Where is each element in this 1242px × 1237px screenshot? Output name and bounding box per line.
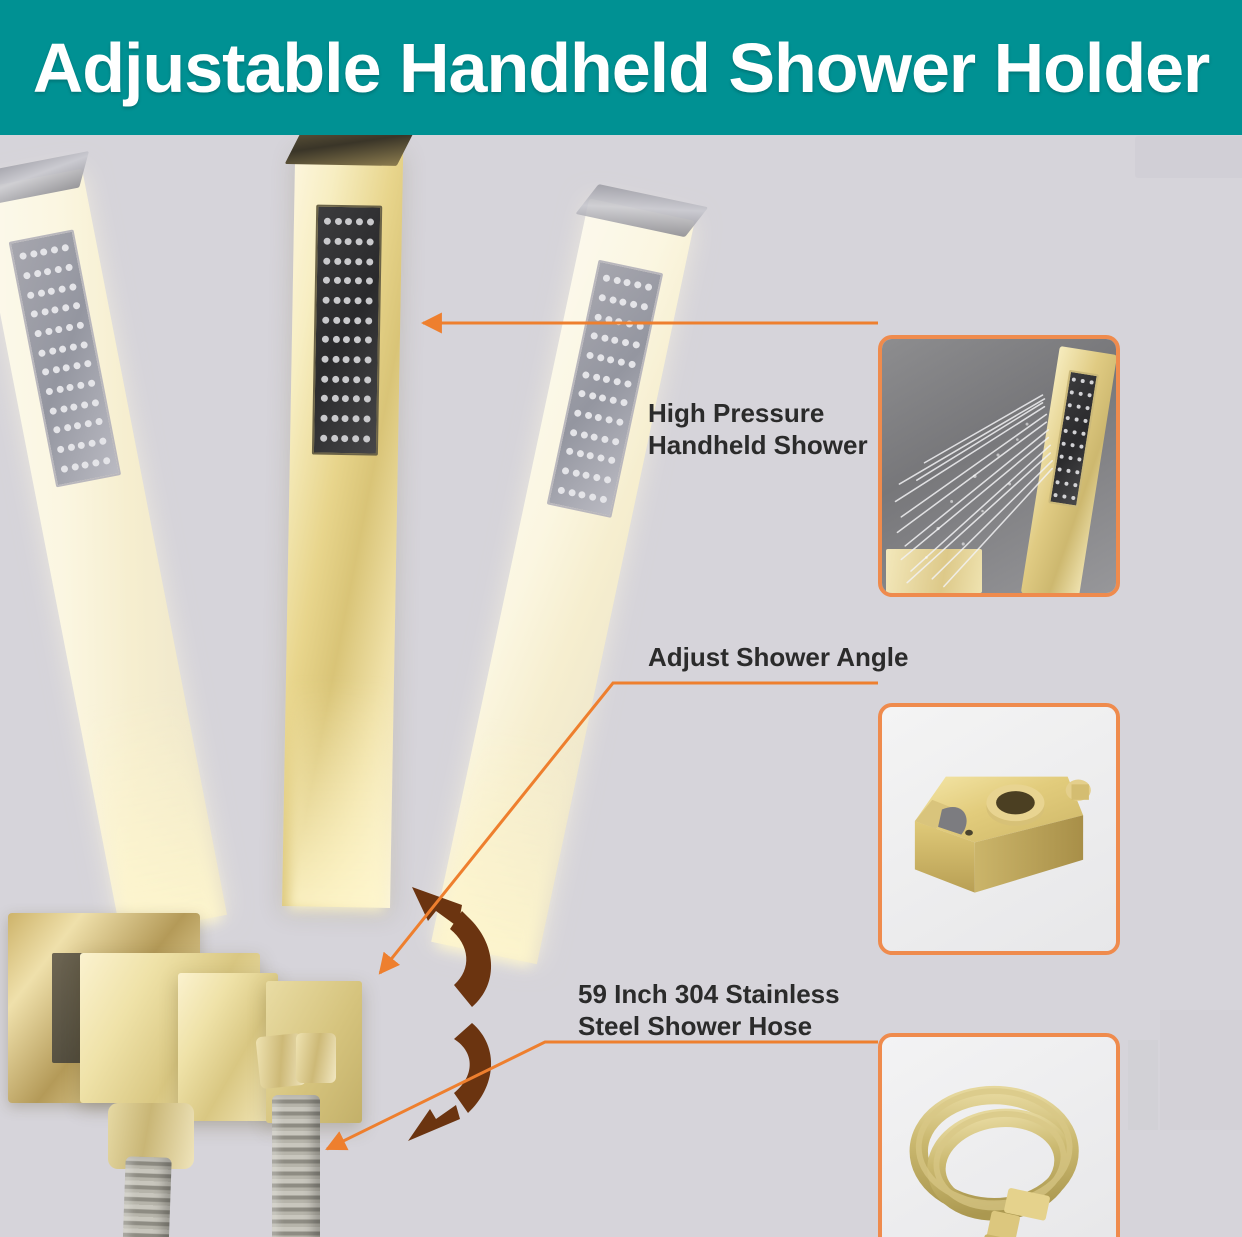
nozzle-plate — [312, 205, 382, 456]
callout-label-stainless-steel-shower-hose: 59 Inch 304 Stainless Steel Shower Hose — [578, 978, 840, 1042]
inset-shower-holder-bracket[interactable] — [878, 703, 1120, 955]
bracket-part-illustration — [882, 707, 1116, 951]
shower-hose-right — [272, 1095, 320, 1237]
hose-photo — [882, 1037, 1116, 1237]
spray-photo — [882, 339, 1116, 593]
product-stage: High Pressure Handheld Shower Adjust Sho… — [0, 135, 1242, 1237]
shower-hose-left — [118, 1156, 171, 1237]
background-artifact — [1135, 136, 1242, 178]
wand-glow — [84, 694, 222, 938]
wand-body — [282, 146, 403, 908]
background-artifact — [1128, 1040, 1158, 1130]
inset-handheld-shower-spray[interactable] — [878, 335, 1120, 597]
shower-wand-main — [282, 146, 403, 908]
wand-glow — [436, 722, 578, 967]
callout-label-adjust-shower-angle: Adjust Shower Angle — [648, 641, 909, 673]
wand-body — [0, 169, 227, 936]
wand-cap — [285, 135, 414, 166]
leader-line-shower-hose — [327, 1042, 878, 1149]
wand-glow — [288, 680, 388, 912]
callout-label-high-pressure-handheld-shower: High Pressure Handheld Shower — [648, 397, 868, 461]
wand-body — [431, 198, 695, 964]
wand-cap — [575, 184, 708, 237]
wand-cap — [0, 151, 89, 209]
stem-nut — [296, 1033, 336, 1083]
nozzle-plate — [547, 260, 664, 518]
infographic-page: Adjustable Handheld Shower Holder — [0, 0, 1242, 1237]
nozzle-plate — [9, 229, 121, 487]
water-spray-jets — [882, 339, 1116, 592]
header-banner: Adjustable Handheld Shower Holder — [0, 0, 1242, 135]
page-title: Adjustable Handheld Shower Holder — [33, 28, 1210, 108]
coiled-hose-illustration — [882, 1037, 1116, 1237]
background-artifact — [1160, 1010, 1242, 1130]
shower-wand-ghost-left — [0, 169, 227, 936]
bracket-photo — [882, 707, 1116, 951]
shower-wand-ghost-right — [431, 198, 695, 964]
inset-coiled-shower-hose[interactable] — [878, 1033, 1120, 1237]
